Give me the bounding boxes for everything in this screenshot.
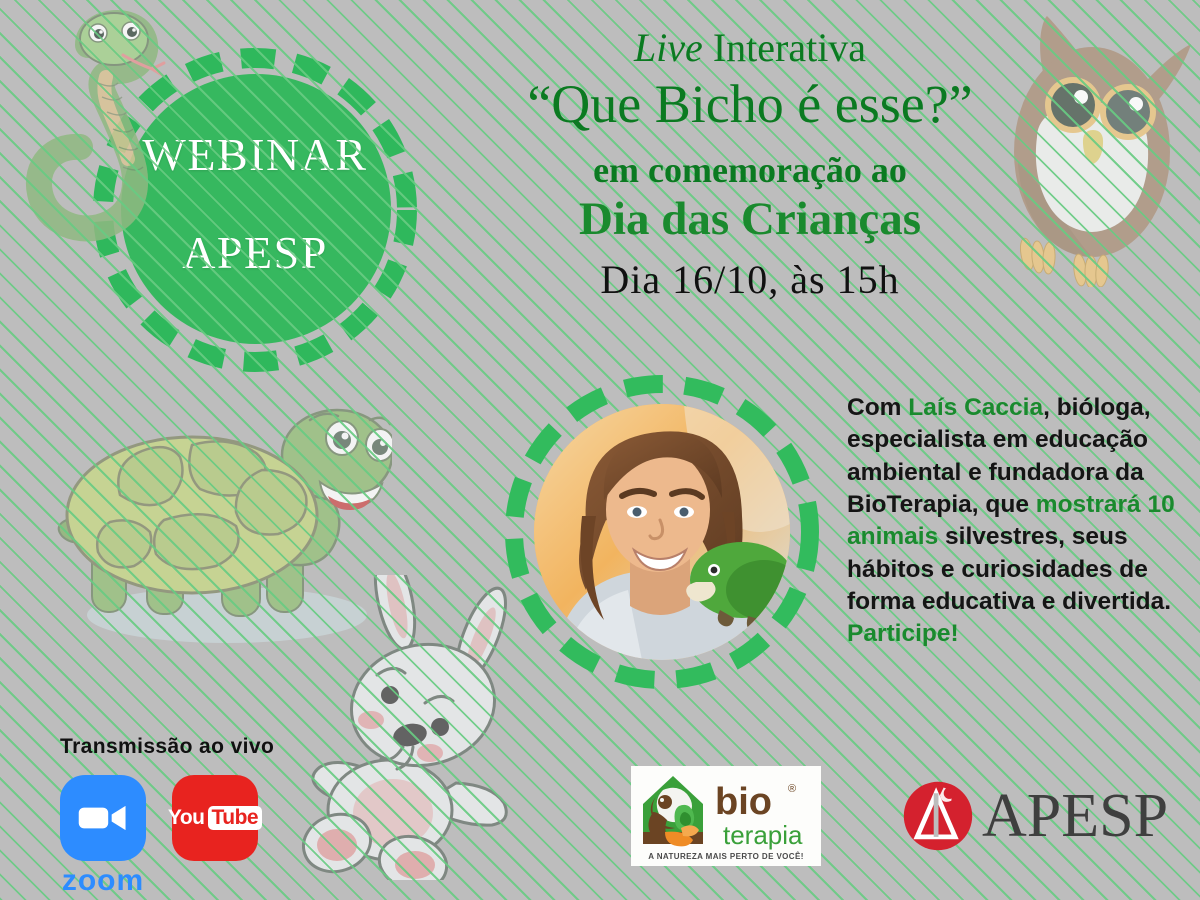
svg-text:terapia: terapia (723, 820, 803, 850)
transmission-block: Transmissão ao vivo zoom You Tube (60, 735, 274, 898)
headline-title: “Que Bicho é esse?” (440, 73, 1060, 137)
headline-block: Live Interativa “Que Bicho é esse?” em c… (440, 26, 1060, 304)
headline-occasion: Dia das Crianças (440, 192, 1060, 246)
video-camera-icon (77, 802, 129, 834)
headline-datetime: Dia 16/10, às 15h (440, 256, 1060, 304)
portrait-block (497, 367, 827, 697)
svg-text:®: ® (788, 783, 796, 795)
bioterapia-mark: bio ® terapia (631, 766, 821, 866)
bioterapia-logo: bio ® terapia A NATUREZA MAIS PERTO DE V… (631, 766, 821, 866)
portrait-photo (534, 404, 790, 660)
desc-call-to-action: Participe! (847, 620, 959, 647)
zoom-icon[interactable] (60, 775, 146, 861)
description-text: Com Laís Caccia, bióloga, especialista e… (847, 392, 1177, 651)
bioterapia-tagline: A NATUREZA MAIS PERTO DE VOCÊ! (631, 852, 821, 861)
youtube-platform[interactable]: You Tube (172, 775, 258, 861)
transmission-label: Transmissão ao vivo (60, 735, 274, 759)
zoom-wordmark: zoom (60, 864, 146, 898)
poster-canvas: WEBINAR APESP (0, 0, 1200, 900)
apesp-logo: APESP (900, 778, 1168, 854)
svg-text:bio: bio (715, 781, 772, 823)
headline-live-line: Live Interativa (440, 26, 1060, 71)
headline-live-italic: Live (634, 25, 703, 70)
snake-illustration (18, 5, 218, 255)
desc-seg-1: Com (847, 394, 908, 421)
youtube-icon[interactable]: You Tube (172, 775, 258, 861)
youtube-word-you: You (168, 806, 205, 830)
apesp-mark-icon (900, 778, 976, 854)
zoom-platform[interactable]: zoom (60, 775, 146, 898)
youtube-word-tube: Tube (208, 806, 263, 830)
headline-subtitle: em comemoração ao (440, 149, 1060, 192)
apesp-wordmark: APESP (982, 781, 1168, 852)
headline-live-rest: Interativa (703, 25, 866, 70)
desc-speaker-name: Laís Caccia (908, 394, 1043, 421)
